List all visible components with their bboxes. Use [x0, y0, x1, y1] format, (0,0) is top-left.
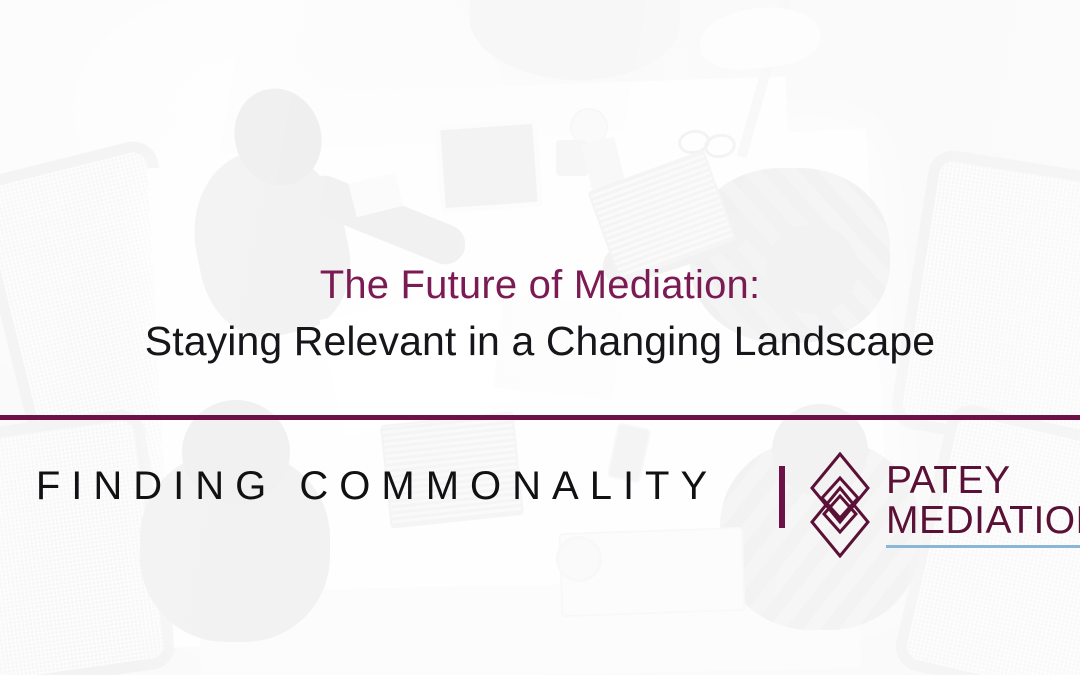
horizontal-divider [0, 415, 1080, 420]
headline-line-2: Staying Relevant in a Changing Landscape [0, 317, 1080, 365]
vertical-divider [779, 466, 785, 528]
banner-footer: FINDING COMMONALITY PATEY MED [0, 440, 1080, 575]
logo-underline-rule [886, 545, 1080, 548]
tagline-text: FINDING COMMONALITY [0, 464, 760, 509]
banner-headline: The Future of Mediation: Staying Relevan… [0, 262, 1080, 366]
logo-wordmark: PATEY MEDIATIONS [886, 462, 1080, 548]
headline-line-1: The Future of Mediation: [0, 262, 1080, 309]
logo-word-mediations: MEDIATIONS [886, 502, 1080, 540]
interlocking-diamonds-icon [808, 452, 872, 558]
presentation-banner: The Future of Mediation: Staying Relevan… [0, 0, 1080, 675]
logo-word-patey: PATEY [886, 462, 1080, 500]
banner-content: The Future of Mediation: Staying Relevan… [0, 0, 1080, 675]
patey-mediations-logo: PATEY MEDIATIONS [808, 450, 1080, 560]
